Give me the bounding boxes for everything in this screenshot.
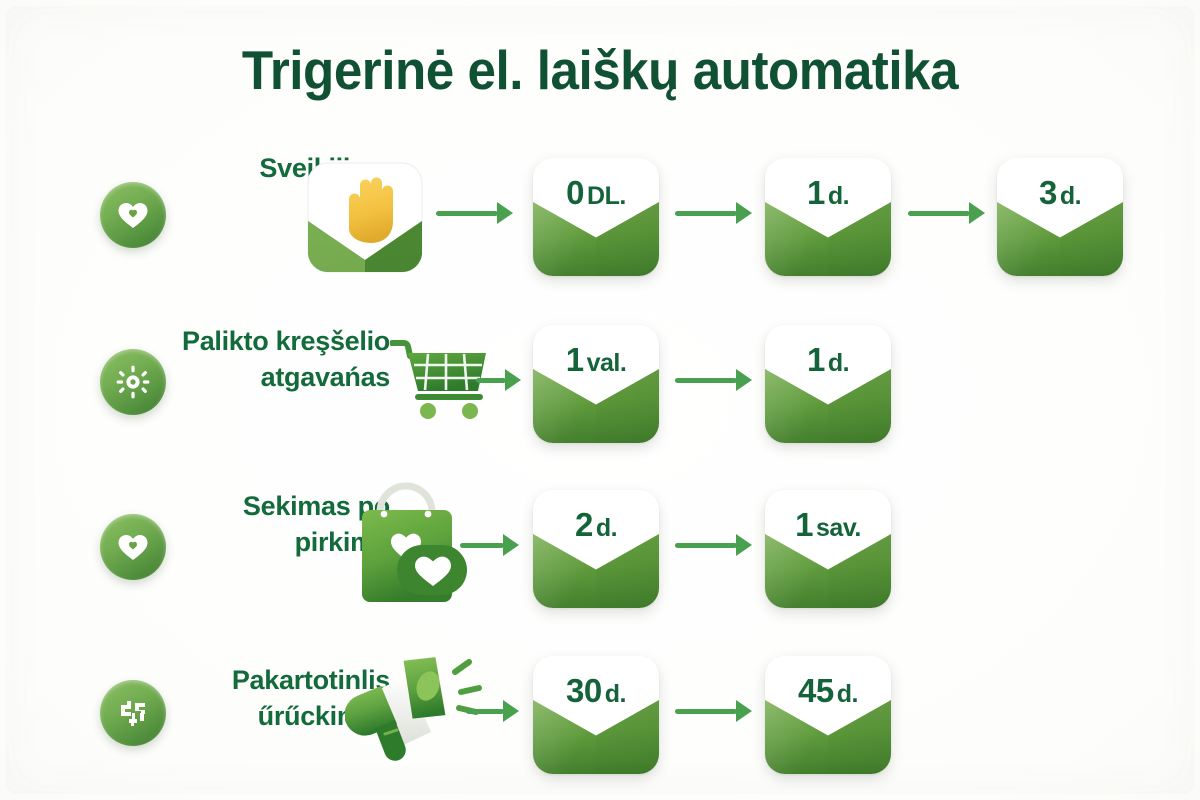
page-title: Trigerinė el. laiškų automatika <box>42 38 1158 102</box>
email-step-label: 0DL. <box>533 174 659 212</box>
arrow-shaft <box>675 211 737 216</box>
step-unit: DL. <box>587 182 626 210</box>
step-number: 3 <box>1039 174 1057 211</box>
row-label-line-1: Palikto kreşšelio <box>108 323 390 359</box>
arrow-head-icon <box>736 700 752 722</box>
arrow-head-icon <box>505 369 521 391</box>
step-unit: d. <box>828 349 849 377</box>
arrow-shaft <box>476 378 506 383</box>
arrow-shaft <box>675 709 737 714</box>
email-step-label: 2d. <box>533 506 659 544</box>
step-number: 30 <box>566 672 602 709</box>
flow-row-abandoned-cart: Palikto kreşšelio atgavańas <box>0 307 1200 457</box>
flow-arrow <box>460 532 519 558</box>
step-number: 1 <box>566 341 584 378</box>
arrow-shaft <box>466 709 504 714</box>
email-step-label: 1d. <box>765 174 891 212</box>
flow-arrow <box>476 367 521 393</box>
flow-arrow <box>675 200 752 226</box>
flow-row-welcome-series: Sveikiiimo serija <box>0 140 1200 290</box>
step-unit: d. <box>605 680 626 708</box>
step-unit: sav. <box>816 514 861 542</box>
email-step-card[interactable]: 2d. <box>533 490 659 608</box>
step-number: 2 <box>575 506 593 543</box>
envelope-graphic <box>997 202 1123 276</box>
envelope-graphic <box>765 700 891 774</box>
email-step-card[interactable]: 45d. <box>765 656 891 774</box>
step-unit: d. <box>828 182 849 210</box>
step-unit: d. <box>837 680 858 708</box>
arrow-head-icon <box>736 534 752 556</box>
envelope-graphic <box>533 369 659 443</box>
envelope-graphic <box>533 534 659 608</box>
step-number: 1 <box>807 174 825 211</box>
envelope-graphic <box>533 700 659 774</box>
arrow-head-icon <box>736 202 752 224</box>
arrow-head-icon <box>497 202 513 224</box>
email-step-label: 45d. <box>765 672 891 710</box>
email-step-card[interactable]: 0DL. <box>533 158 659 276</box>
arrow-shaft <box>436 211 498 216</box>
step-number: 1 <box>807 341 825 378</box>
step-number: 0 <box>566 174 584 211</box>
step-unit: val. <box>587 349 627 377</box>
flow-arrow <box>675 532 752 558</box>
email-step-card[interactable]: 1val. <box>533 325 659 443</box>
flow-arrow <box>908 200 985 226</box>
arrow-shaft <box>675 378 737 383</box>
flow-row-post-purchase: Sekimas po pirkimo <box>0 472 1200 622</box>
step-unit: d. <box>596 514 617 542</box>
shopping-bag-heart-icon <box>340 482 480 612</box>
envelope-graphic <box>765 202 891 276</box>
flow-arrow <box>675 698 752 724</box>
email-step-label: 1d. <box>765 341 891 379</box>
arrow-shaft <box>460 543 504 548</box>
arrow-head-icon <box>503 700 519 722</box>
waving-hand-envelope-icon <box>300 155 430 280</box>
flow-arrow <box>675 367 752 393</box>
step-number: 45 <box>798 672 834 709</box>
envelope-graphic <box>765 534 891 608</box>
email-step-label: 3d. <box>997 174 1123 212</box>
row-label-abandoned-cart: Palikto kreşšelio atgavańas <box>108 323 390 395</box>
infographic-canvas: Trigerinė el. laiškų automatika Sveikiii… <box>0 0 1200 800</box>
arrow-head-icon <box>503 534 519 556</box>
email-step-card[interactable]: 1d. <box>765 325 891 443</box>
email-step-label: 1val. <box>533 341 659 379</box>
step-unit: d. <box>1060 182 1081 210</box>
step-number: 1 <box>795 506 813 543</box>
envelope-graphic <box>765 369 891 443</box>
arrow-shaft <box>675 543 737 548</box>
row-label-line-2: atgavańas <box>108 359 390 395</box>
flow-arrow <box>466 698 519 724</box>
envelope-graphic <box>533 202 659 276</box>
email-step-card[interactable]: 1sav. <box>765 490 891 608</box>
arrow-head-icon <box>969 202 985 224</box>
email-step-label: 1sav. <box>765 506 891 544</box>
email-step-card[interactable]: 3d. <box>997 158 1123 276</box>
email-step-card[interactable]: 1d. <box>765 158 891 276</box>
arrow-shaft <box>908 211 970 216</box>
arrow-head-icon <box>736 369 752 391</box>
flow-row-reengagement: Pakartotinlis űrűckimas <box>0 638 1200 788</box>
email-step-label: 30d. <box>533 672 659 710</box>
flow-arrow <box>436 200 513 226</box>
email-step-card[interactable]: 30d. <box>533 656 659 774</box>
